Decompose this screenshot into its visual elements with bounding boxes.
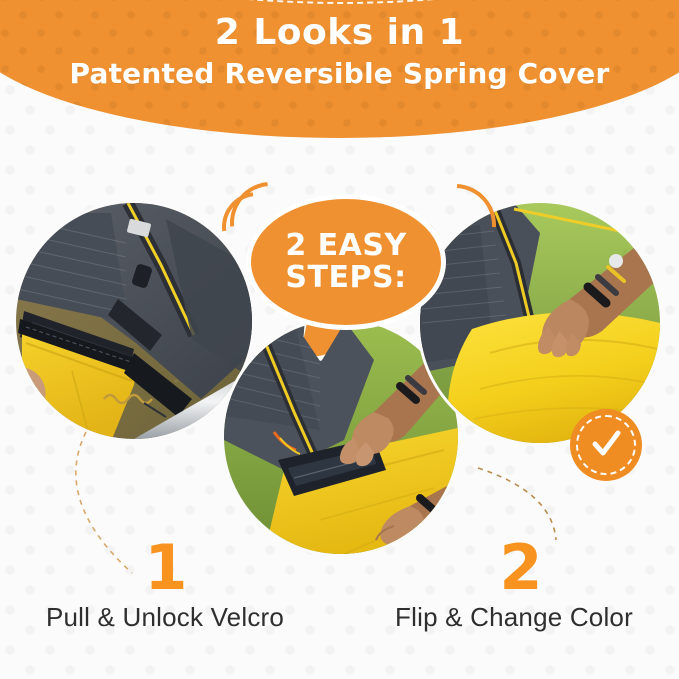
photo-pull-velcro — [16, 203, 252, 439]
check-badge — [570, 409, 642, 481]
step-caption-1: Pull & Unlock Velcro — [0, 602, 330, 633]
header-banner: 2 Looks in 1 Patented Reversible Spring … — [0, 0, 679, 138]
speech-bubble-line-1: 2 EASY — [285, 230, 406, 262]
step-caption-2: Flip & Change Color — [349, 602, 679, 633]
page-title: 2 Looks in 1 — [0, 14, 679, 52]
promo-graphic: 2 Looks in 1 Patented Reversible Spring … — [0, 0, 679, 679]
page-subtitle: Patented Reversible Spring Cover — [0, 58, 679, 90]
step-number-2: 2 — [481, 537, 561, 599]
check-icon — [586, 425, 626, 465]
speech-bubble-line-2: STEPS: — [285, 262, 406, 294]
header-text-group: 2 Looks in 1 Patented Reversible Spring … — [0, 0, 679, 90]
speech-bubble: 2 EASY STEPS: — [238, 186, 454, 361]
step-number-1: 1 — [126, 537, 206, 599]
speech-bubble-body: 2 EASY STEPS: — [246, 194, 446, 330]
